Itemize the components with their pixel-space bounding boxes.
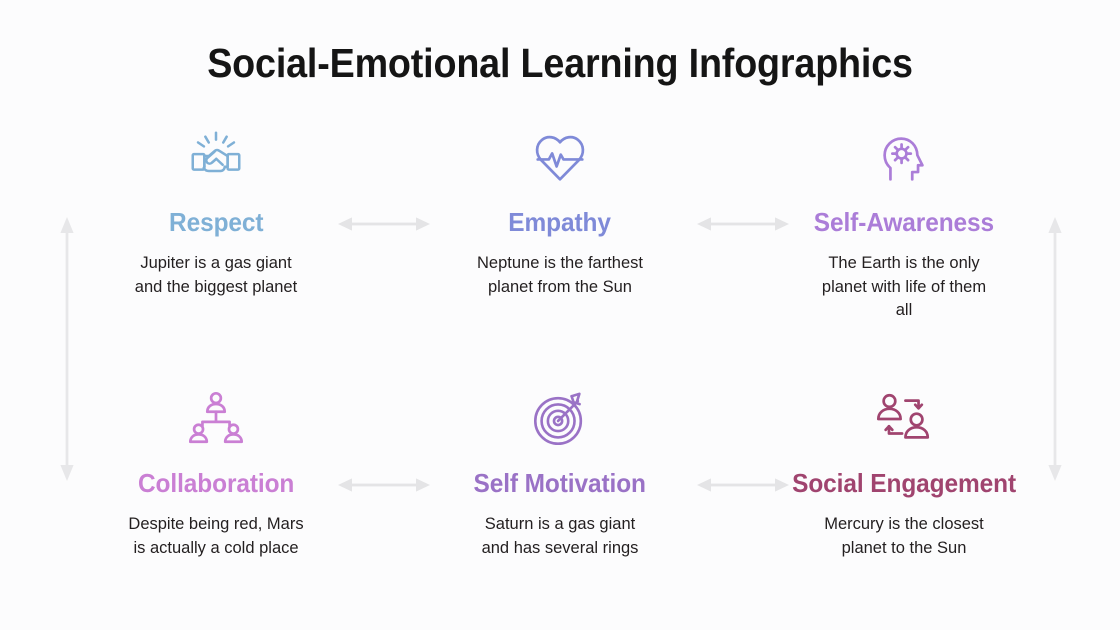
card-description: The Earth is the only planet with life o… <box>814 252 994 322</box>
people-network-icon <box>185 386 247 452</box>
card-title: Self-Awareness <box>814 209 994 236</box>
card-description: Jupiter is a gas giant and the biggest p… <box>126 252 306 299</box>
card-title: Social Engagement <box>792 470 1016 497</box>
infographic-slide: Social-Emotional Learning Infographics <box>0 0 1120 630</box>
double-arrow-horizontal-icon <box>695 213 791 235</box>
double-arrow-vertical-icon <box>1044 215 1066 483</box>
card-collaboration[interactable]: Collaboration Despite being red, Mars is… <box>96 386 336 560</box>
card-description: Despite being red, Mars is actually a co… <box>126 513 306 560</box>
card-title: Collaboration <box>138 470 294 497</box>
double-arrow-horizontal-icon <box>336 213 432 235</box>
heart-pulse-icon <box>529 125 591 191</box>
card-row-bottom: Collaboration Despite being red, Mars is… <box>96 386 1024 560</box>
card-respect[interactable]: Respect Jupiter is a gas giant and the b… <box>96 125 336 299</box>
card-social-engagement[interactable]: Social Engagement Mercury is the closest… <box>784 386 1024 560</box>
card-empathy[interactable]: Empathy Neptune is the farthest planet f… <box>440 125 680 299</box>
card-self-awareness[interactable]: Self-Awareness The Earth is the only pla… <box>784 125 1024 323</box>
handshake-icon <box>185 125 247 191</box>
double-arrow-vertical-icon <box>56 215 78 483</box>
card-row-top: Respect Jupiter is a gas giant and the b… <box>96 125 1024 323</box>
double-arrow-horizontal-icon <box>336 474 432 496</box>
card-description: Neptune is the farthest planet from the … <box>470 252 650 299</box>
card-description: Mercury is the closest planet to the Sun <box>814 513 994 560</box>
double-arrow-horizontal-icon <box>695 474 791 496</box>
card-title: Empathy <box>509 209 612 236</box>
people-exchange-icon <box>873 386 935 452</box>
card-title: Self Motivation <box>474 470 646 497</box>
card-description: Saturn is a gas giant and has several ri… <box>470 513 650 560</box>
page-title: Social-Emotional Learning Infographics <box>45 40 1075 87</box>
target-dart-icon <box>529 386 591 452</box>
card-self-motivation[interactable]: Self Motivation Saturn is a gas giant an… <box>440 386 680 560</box>
card-title: Respect <box>169 209 263 236</box>
head-gear-icon <box>873 125 935 191</box>
